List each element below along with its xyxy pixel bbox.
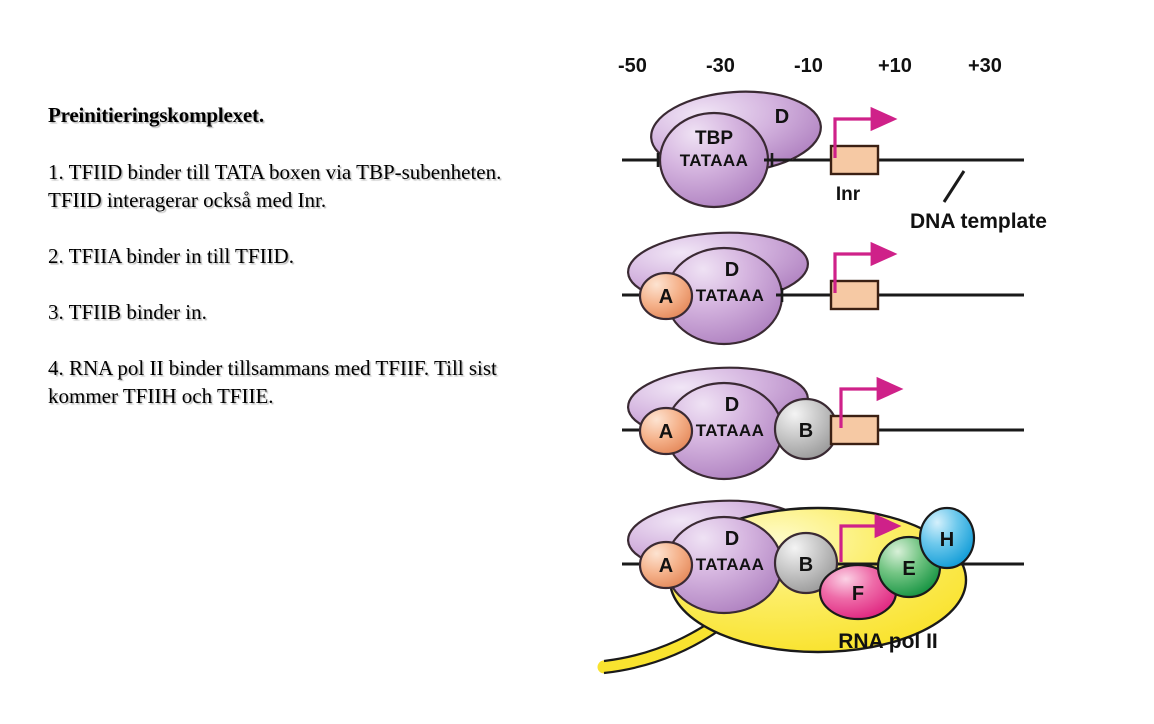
scale-label-plus30: +30 [968, 55, 1002, 77]
tata-box-label-panel-3: TATAAA [696, 421, 765, 440]
step-item-3: 3. TFIIB binder in. [48, 298, 503, 326]
tfiie-letter-panel-4: E [902, 558, 915, 580]
tfiih-letter-panel-4: H [940, 529, 954, 551]
tfiid-letter-panel-1: D [775, 106, 789, 128]
slide-text-column: Preinitieringskomplexet. 1. TFIID binder… [48, 103, 548, 438]
scale-label-minus30: -30 [706, 55, 735, 77]
inr-box-panel-2 [831, 281, 878, 309]
tbp-label-panel-1: TBP [695, 128, 733, 149]
preinitiation-complex-diagram: -50 -30 -10 +10 +30 TBP TATAAA D Inr DNA… [596, 40, 1066, 700]
step-item-1: 1. TFIID binder till TATA boxen via TBP-… [48, 158, 503, 214]
rna-pol-label: RNA pol II [838, 630, 938, 653]
tfiia-letter-panel-3: A [659, 421, 673, 443]
tata-box-label-panel-1: TATAAA [680, 151, 749, 170]
tfiif-letter-panel-4: F [852, 583, 864, 605]
step-item-2: 2. TFIIA binder in till TFIID. [48, 242, 503, 270]
tfiid-letter-panel-2: D [725, 259, 739, 281]
tfiib-letter-panel-3: B [799, 420, 813, 442]
tfiid-letter-panel-3: D [725, 394, 739, 416]
step-item-4: 4. RNA pol II binder tillsammans med TFI… [48, 354, 503, 410]
panel-3-tfiib-bound: A D TATAAA B [622, 363, 1024, 479]
inr-label-panel-1: Inr [836, 184, 861, 205]
tfiib-letter-panel-4: B [799, 554, 813, 576]
tfiid-letter-panel-4: D [725, 528, 739, 550]
tata-box-label-panel-2: TATAAA [696, 286, 765, 305]
tata-box-label-panel-4: TATAAA [696, 555, 765, 574]
panel-1-tfiid-bound: TBP TATAAA D Inr DNA template [622, 86, 1047, 233]
position-scale: -50 -30 -10 +10 +30 [618, 55, 1002, 77]
panel-2-tfiia-bound: A D TATAAA [622, 228, 1024, 344]
scale-label-minus50: -50 [618, 55, 647, 77]
scale-label-minus10: -10 [794, 55, 823, 77]
tfiia-letter-panel-2: A [659, 286, 673, 308]
dna-template-label: DNA template [910, 210, 1047, 233]
inr-box-panel-1 [831, 146, 878, 174]
dna-template-leader-line [944, 171, 964, 202]
inr-box-panel-3 [831, 416, 878, 444]
scale-label-plus10: +10 [878, 55, 912, 77]
panel-4-holoenzyme: A D TATAAA B F E H RNA pol II [604, 496, 1024, 673]
page-title: Preinitieringskomplexet. [48, 103, 548, 128]
tfiia-letter-panel-4: A [659, 555, 673, 577]
